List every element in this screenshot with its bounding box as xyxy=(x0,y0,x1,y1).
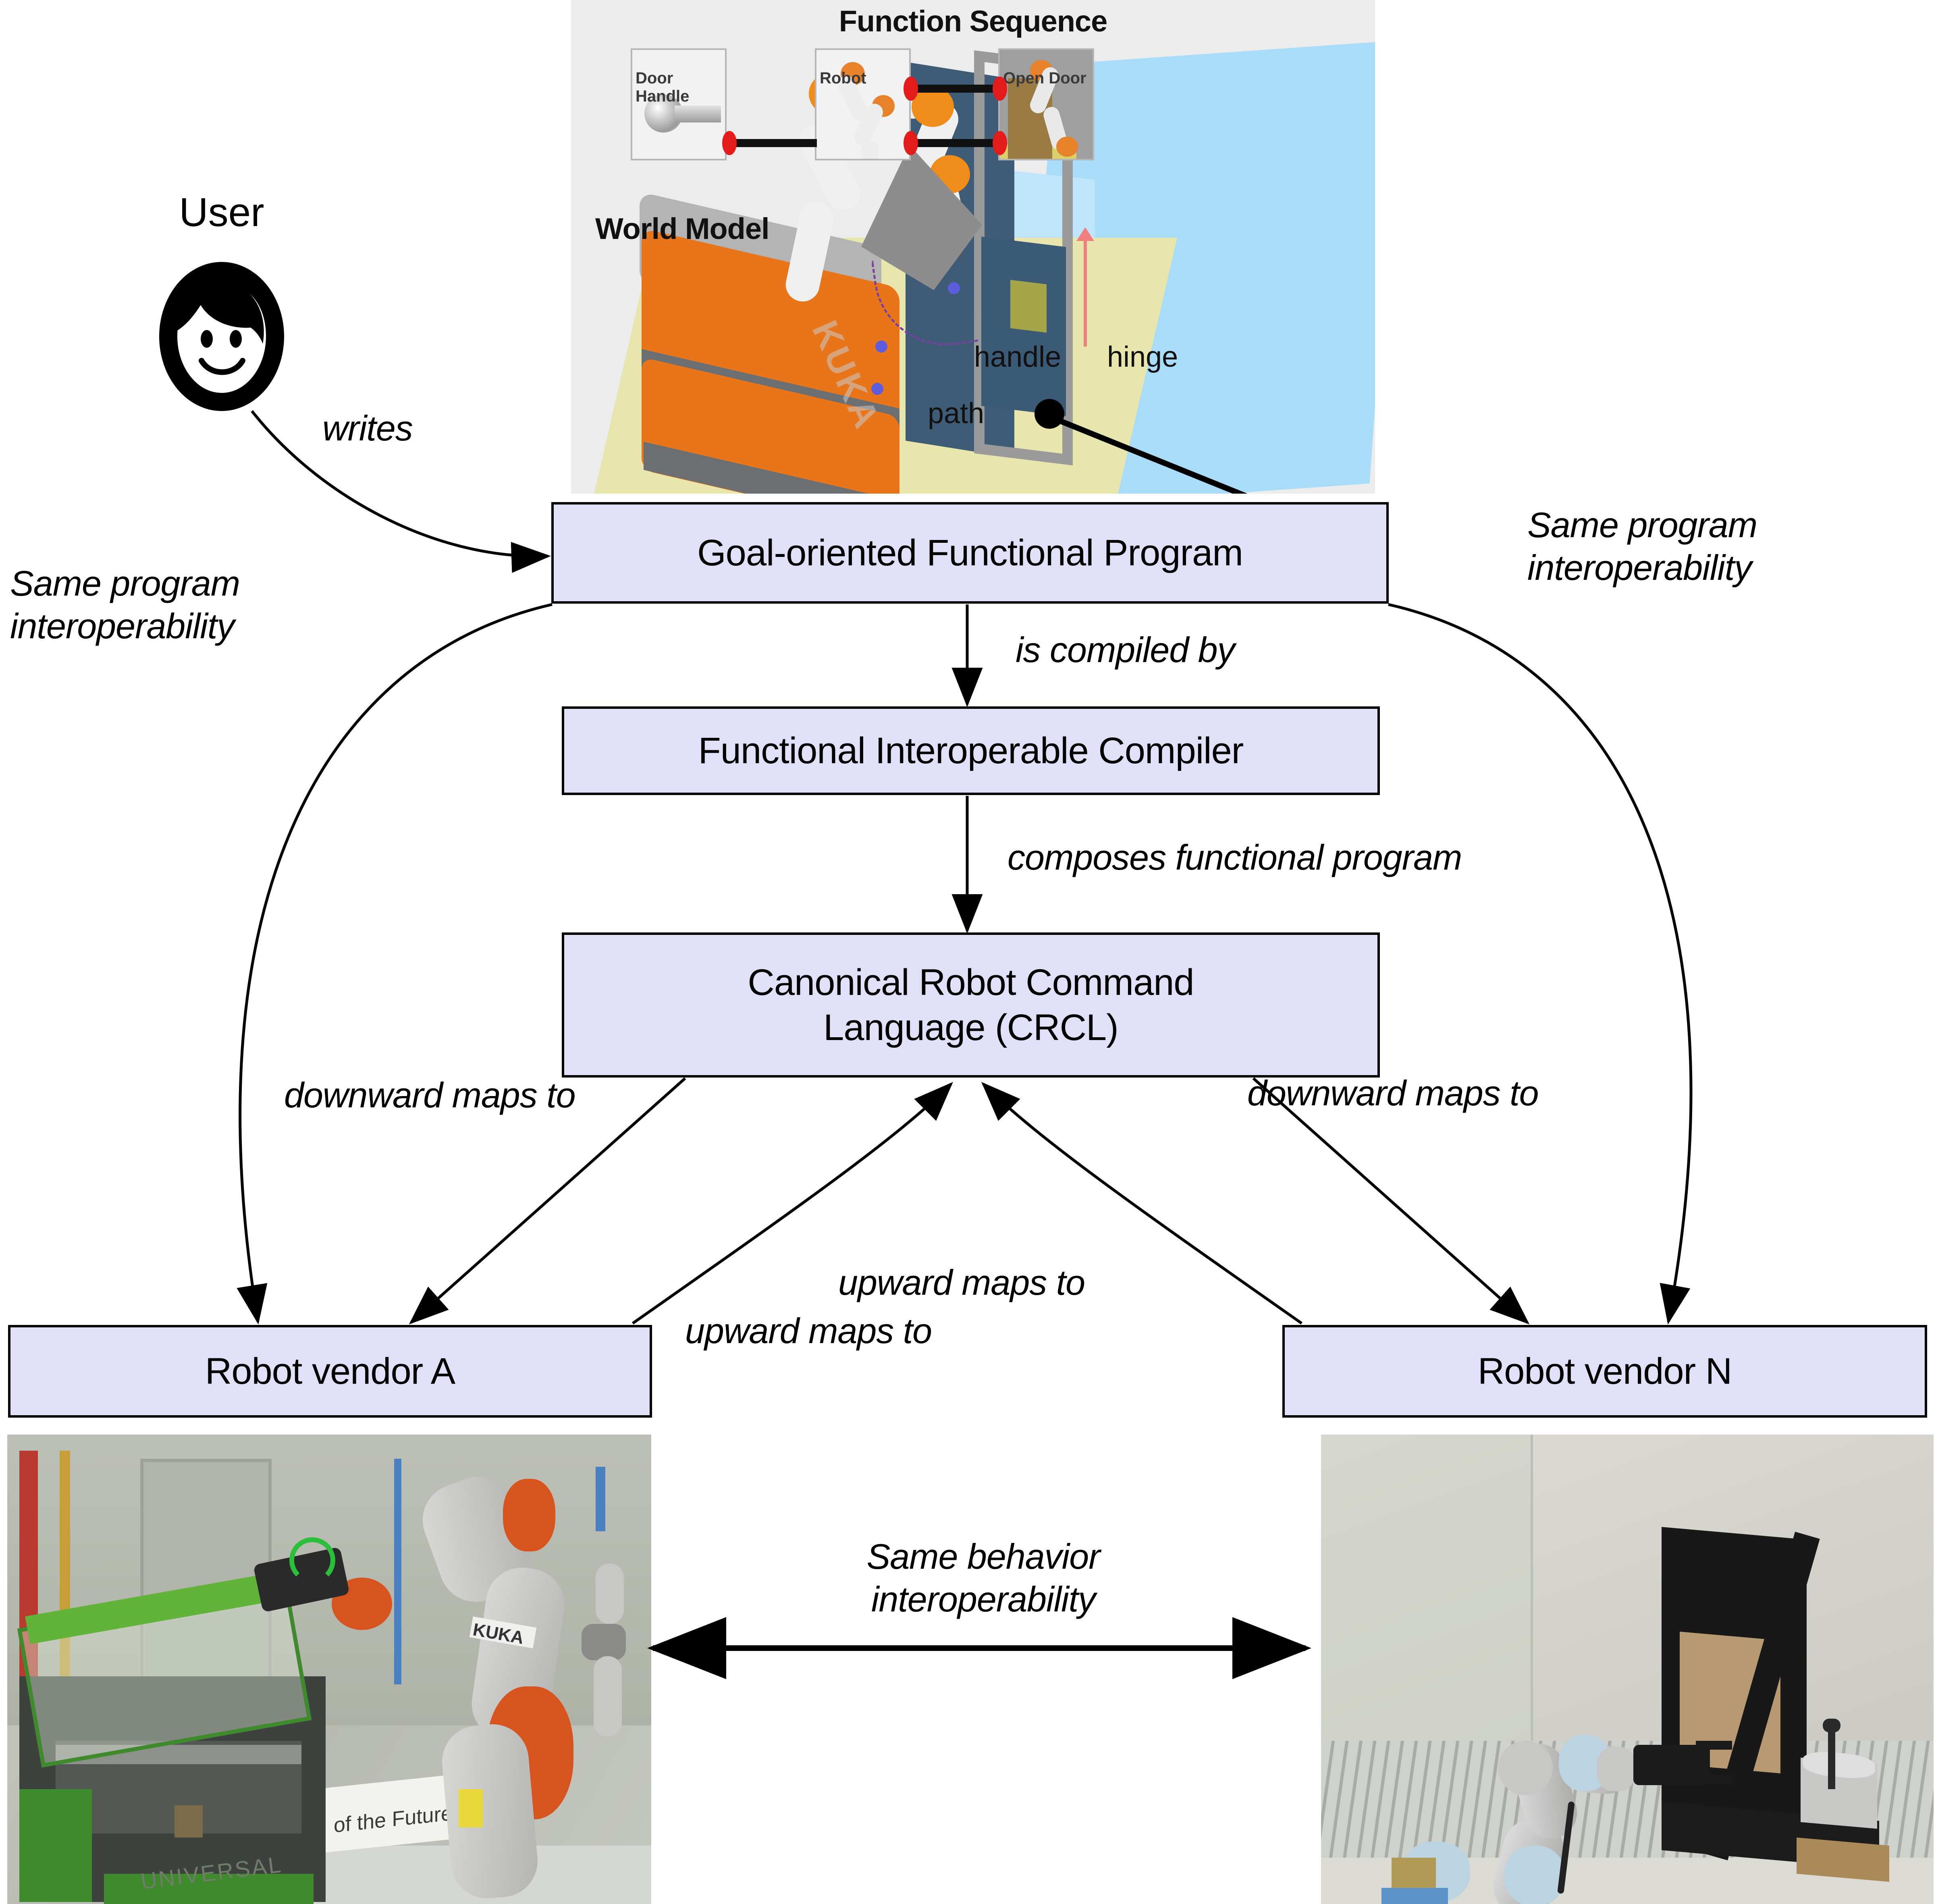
node-label: Canonical Robot Command Language (CRCL) xyxy=(748,960,1194,1050)
node-goal-oriented-functional-program[interactable]: Goal-oriented Functional Program xyxy=(551,502,1389,604)
node-label: Goal-oriented Functional Program xyxy=(697,530,1243,575)
edge-downward-maps-right xyxy=(1253,1078,1527,1323)
vendor-a-photo: of the Future UNIVERSAL KUKA xyxy=(7,1435,651,1904)
ur-arm-joint xyxy=(1504,1846,1565,1904)
ur-gripper-finger xyxy=(1696,1775,1732,1784)
function-sequence-title: Function Sequence xyxy=(571,4,1375,38)
node-label: Functional Interoperable Compiler xyxy=(698,728,1244,773)
edge-label-upward-maps-left: upward maps to xyxy=(685,1310,932,1352)
node-robot-vendor-n[interactable]: Robot vendor N xyxy=(1282,1325,1927,1418)
fs-arm-segment xyxy=(862,141,879,160)
edge-label-is-compiled-by: is compiled by xyxy=(1016,629,1235,671)
function-card-robot: Robot xyxy=(815,48,911,160)
edge-label-downward-maps-right: downward maps to xyxy=(1247,1072,1539,1115)
kuka-arm-segment xyxy=(439,1721,541,1901)
node-canonical-robot-command-language[interactable]: Canonical Robot Command Language (CRCL) xyxy=(562,932,1380,1078)
function-port-icon xyxy=(993,131,1007,155)
node-label: Robot vendor A xyxy=(205,1349,455,1394)
yellow-warning-tag xyxy=(459,1789,483,1827)
user-label: User xyxy=(149,189,294,236)
kuka-arm-joint xyxy=(503,1479,555,1551)
sim-pointer-dot xyxy=(1034,399,1064,429)
laser-cutter-workpiece xyxy=(174,1805,203,1838)
sim-annotation-hinge: hinge xyxy=(1107,341,1178,374)
function-card-open-door: Open Door xyxy=(998,48,1094,160)
ur-arm-joint xyxy=(1498,1741,1553,1795)
photo-glass-wall xyxy=(1321,1435,1533,1765)
edge-label-same-program-right: Same program interoperability xyxy=(1527,504,1757,589)
function-card-label: Door Handle xyxy=(636,69,725,106)
node-robot-vendor-a[interactable]: Robot vendor A xyxy=(8,1325,652,1418)
edge-label-same-program-left: Same program interoperability xyxy=(10,562,240,647)
background-ur-arm-segment xyxy=(596,1563,624,1624)
function-port-icon xyxy=(722,131,737,155)
edge-label-writes: writes xyxy=(322,407,413,450)
user-face-icon xyxy=(149,260,294,413)
sim-waypoint-dot xyxy=(875,341,887,353)
edge-same-program-left xyxy=(240,604,552,1322)
vise-knob xyxy=(1823,1719,1840,1732)
edge-label-upward-maps-right: upward maps to xyxy=(838,1261,1085,1304)
node-functional-interoperable-compiler[interactable]: Functional Interoperable Compiler xyxy=(562,706,1380,795)
sim-hinge-arrow-icon xyxy=(1084,238,1087,347)
function-connector xyxy=(910,139,998,147)
sim-annotation-handle: handle xyxy=(974,341,1061,374)
ur-arm-wrist xyxy=(1597,1747,1635,1791)
sim-waypoint-dot xyxy=(871,383,883,395)
sim-door-knob-patch xyxy=(1010,280,1047,332)
edge-label-composes: composes functional program xyxy=(1007,836,1462,879)
vendor-n-photo xyxy=(1321,1435,1934,1904)
fs-arm-joint xyxy=(1056,137,1078,157)
edge-label-same-behavior: Same behavior interoperability xyxy=(802,1535,1165,1620)
edge-label-downward-maps-left: downward maps to xyxy=(284,1074,575,1117)
blue-fixture-clip xyxy=(1381,1888,1448,1904)
sim-annotation-path: path xyxy=(928,397,984,430)
function-card-label: Robot xyxy=(820,69,866,87)
node-label: Robot vendor N xyxy=(1478,1349,1732,1394)
photo-blue-tape xyxy=(394,1459,401,1684)
vise-handle xyxy=(1828,1725,1835,1789)
sim-world-model-title: World Model xyxy=(595,212,769,246)
function-card-door-handle: Door Handle xyxy=(631,48,727,160)
function-port-icon xyxy=(993,77,1007,101)
circuit-board-part xyxy=(1392,1858,1436,1892)
door-handle-lever-icon xyxy=(675,106,721,123)
laser-cutter-green-panel xyxy=(19,1789,92,1902)
background-ur-arm-joint xyxy=(582,1624,626,1660)
background-ur-arm-segment xyxy=(594,1656,622,1737)
sim-waypoint-dot xyxy=(948,282,960,294)
edge-same-program-right xyxy=(1388,604,1691,1322)
function-connector xyxy=(728,139,817,147)
function-connector xyxy=(910,85,998,93)
diagram-canvas: KUKA World Model handle hinge path Funct… xyxy=(0,0,1936,1904)
ur-gripper-finger xyxy=(1696,1741,1732,1750)
sim-arm-joint xyxy=(912,87,954,127)
simulation-screenshot-panel: KUKA World Model handle hinge path Funct… xyxy=(571,0,1375,494)
function-card-label: Open Door xyxy=(1003,69,1086,87)
function-port-icon xyxy=(904,131,918,155)
green-tool-loop-icon xyxy=(289,1537,335,1583)
function-port-icon xyxy=(904,77,918,101)
photo-blue-tape xyxy=(596,1467,605,1531)
